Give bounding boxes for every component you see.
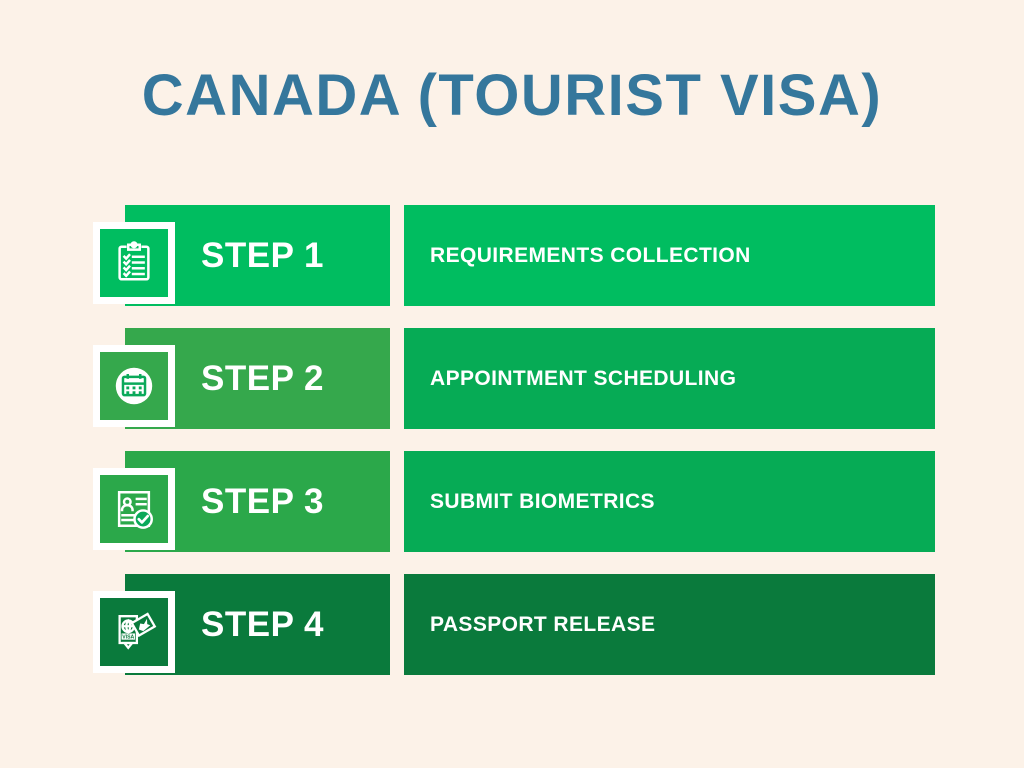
visa-process-infographic: CANADA (TOURIST VISA) STEP 1 [0, 0, 1024, 768]
step-number-label: STEP 1 [201, 236, 324, 276]
clipboard-checklist-icon [111, 240, 157, 286]
step-row: STEP 1 [0, 205, 1024, 306]
step-number-label: STEP 2 [201, 359, 324, 399]
passport-visa-ticket-icon: VISA [111, 609, 157, 655]
step-description-label: PASSPORT RELEASE [430, 613, 655, 637]
step-description-bar-4[interactable]: PASSPORT RELEASE [404, 574, 935, 675]
clipboard-checklist-icon-tile [93, 222, 175, 304]
id-card-check-icon-tile [93, 468, 175, 550]
step-row: STEP 2 [0, 328, 1024, 429]
step-description-label: APPOINTMENT SCHEDULING [430, 367, 736, 391]
calendar-icon-tile [93, 345, 175, 427]
svg-text:VISA: VISA [122, 635, 134, 641]
step-number-label: STEP 4 [201, 605, 324, 645]
step-description-bar-2[interactable]: APPOINTMENT SCHEDULING [404, 328, 935, 429]
step-description-label: SUBMIT BIOMETRICS [430, 490, 655, 514]
step-row: STEP 3 [0, 451, 1024, 552]
step-row: STEP 4 [0, 574, 1024, 675]
passport-visa-ticket-icon-tile: VISA [93, 591, 175, 673]
calendar-icon [111, 363, 157, 409]
step-description-bar-1[interactable]: REQUIREMENTS COLLECTION [404, 205, 935, 306]
step-description-bar-3[interactable]: SUBMIT BIOMETRICS [404, 451, 935, 552]
page-title: CANADA (TOURIST VISA) [0, 64, 1024, 128]
steps-list: STEP 1 [0, 205, 1024, 675]
step-number-label: STEP 3 [201, 482, 324, 522]
step-description-label: REQUIREMENTS COLLECTION [430, 244, 751, 268]
id-card-check-icon [111, 486, 157, 532]
